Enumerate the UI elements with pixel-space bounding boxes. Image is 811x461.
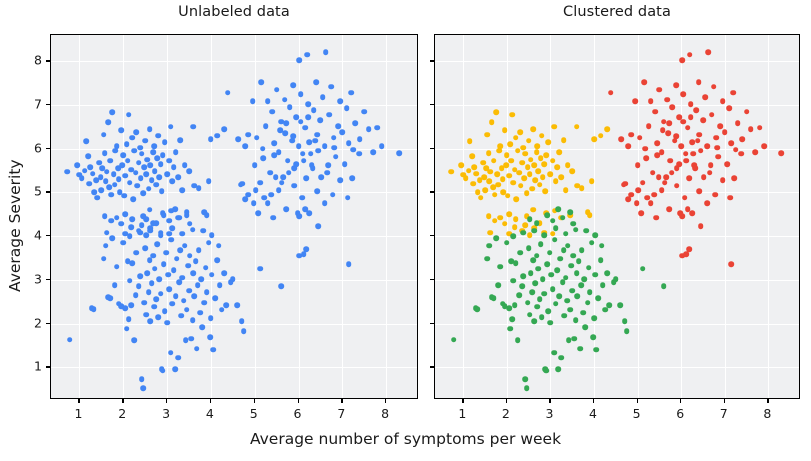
scatter-point	[168, 350, 174, 356]
scatter-point	[202, 300, 208, 306]
scatter-point	[643, 146, 649, 152]
scatter-point	[613, 276, 619, 282]
scatter-point	[491, 295, 497, 301]
scatter-point	[537, 297, 543, 303]
scatter-point	[209, 232, 215, 238]
scatter-point	[561, 137, 567, 143]
scatter-point	[198, 276, 204, 282]
gridline-vertical	[79, 35, 80, 398]
scatter-point	[187, 253, 193, 259]
scatter-point	[140, 385, 146, 391]
scatter-point	[252, 162, 258, 168]
scatter-point	[349, 176, 355, 182]
scatter-point	[525, 164, 531, 170]
scatter-point	[513, 135, 519, 141]
scatter-point	[491, 158, 497, 164]
scatter-point	[565, 243, 571, 249]
scatter-point	[127, 180, 133, 186]
scatter-point	[139, 376, 145, 382]
scatter-point	[171, 267, 177, 273]
scatter-point	[563, 231, 569, 237]
scatter-point	[540, 174, 546, 180]
scatter-point	[662, 180, 668, 186]
scatter-point	[156, 133, 162, 139]
scatter-point	[592, 232, 598, 238]
scatter-point	[304, 176, 310, 182]
scatter-point	[147, 126, 153, 132]
scatter-point	[548, 171, 554, 177]
scatter-point	[342, 161, 348, 167]
scatter-point	[215, 133, 221, 139]
scatter-point	[346, 141, 352, 147]
scatter-point	[488, 169, 494, 175]
gridline-horizontal	[51, 105, 417, 106]
scatter-point	[146, 186, 152, 192]
scatter-point	[265, 99, 271, 105]
scatter-point	[600, 282, 606, 288]
scatter-point	[575, 294, 581, 300]
scatter-point	[550, 287, 556, 293]
gridline-horizontal	[435, 324, 799, 325]
scatter-point	[322, 200, 328, 206]
scatter-point	[112, 282, 118, 288]
gridline-horizontal	[435, 105, 799, 106]
scatter-point	[131, 148, 137, 154]
scatter-point	[506, 211, 512, 217]
scatter-point	[245, 132, 251, 138]
scatter-point	[139, 222, 145, 228]
scatter-point	[569, 169, 575, 175]
scatter-point	[466, 168, 472, 174]
scatter-point	[502, 221, 508, 227]
scatter-point	[604, 270, 610, 276]
scatter-point	[712, 192, 718, 198]
scatter-point	[210, 347, 216, 353]
scatter-point	[216, 243, 222, 249]
scatter-point	[173, 294, 179, 300]
scatter-point	[137, 145, 143, 151]
scatter-point	[508, 326, 514, 332]
scatter-point	[598, 257, 604, 263]
panel-title-right: Clustered data	[434, 4, 800, 20]
scatter-point	[170, 301, 176, 307]
scatter-point	[583, 324, 589, 330]
gridline-horizontal	[435, 236, 799, 237]
scatter-point	[242, 144, 248, 150]
scatter-point	[151, 304, 157, 310]
scatter-point	[718, 123, 724, 129]
scatter-point	[666, 121, 672, 127]
scatter-point	[283, 206, 289, 212]
x-tick-label: 7	[337, 406, 345, 421]
scatter-point	[312, 138, 318, 144]
x-tick-label: 7	[720, 406, 728, 421]
scatter-point	[143, 171, 149, 177]
scatter-point	[251, 200, 257, 206]
scatter-point	[128, 225, 134, 231]
scatter-point	[208, 136, 214, 142]
scatter-point	[705, 50, 711, 56]
scatter-point	[257, 180, 263, 186]
scatter-point	[180, 231, 186, 237]
gridline-vertical	[725, 35, 726, 398]
scatter-point	[170, 179, 176, 185]
scatter-point	[171, 164, 177, 170]
scatter-point	[582, 276, 588, 282]
scatter-point	[279, 180, 285, 186]
scatter-point	[337, 177, 343, 183]
scatter-point	[527, 217, 533, 223]
x-tick-mark	[767, 399, 768, 403]
scatter-point	[253, 187, 259, 193]
scatter-point	[552, 237, 558, 243]
x-tick-label: 8	[763, 406, 771, 421]
x-tick-label: 6	[294, 406, 302, 421]
scatter-point	[474, 306, 480, 312]
scatter-point	[644, 155, 650, 161]
scatter-point	[532, 280, 538, 286]
scatter-plot-unlabeled[interactable]	[50, 34, 418, 399]
scatter-point	[495, 282, 501, 288]
scatter-point	[591, 315, 597, 321]
scatter-point	[199, 324, 205, 330]
scatter-point	[521, 230, 527, 236]
scatter-point	[652, 109, 658, 115]
gridline-vertical	[463, 35, 464, 398]
scatter-point	[569, 288, 575, 294]
scatter-point	[548, 320, 554, 326]
figure-canvas: Unlabeled data Clustered data 1234567812…	[0, 0, 811, 461]
scatter-point	[155, 241, 161, 247]
scatter-point	[493, 235, 499, 241]
scatter-point	[695, 138, 701, 144]
scatter-point	[131, 337, 137, 343]
scatter-point	[221, 126, 227, 132]
scatter-point	[728, 262, 734, 268]
scatter-point	[527, 312, 533, 318]
scatter-point	[702, 94, 708, 100]
scatter-point	[628, 132, 634, 138]
scatter-point	[697, 132, 703, 138]
scatter-point	[162, 308, 168, 314]
scatter-point	[315, 224, 321, 230]
scatter-point	[705, 144, 711, 150]
scatter-point	[101, 132, 107, 138]
scatter-point	[554, 164, 560, 170]
scatter-point	[185, 263, 191, 269]
scatter-point	[463, 175, 469, 181]
scatter-point	[654, 141, 660, 147]
scatter-point	[513, 217, 519, 223]
x-tick-mark	[210, 399, 211, 403]
scatter-point	[685, 206, 691, 212]
scatter-point	[705, 200, 711, 206]
scatter-point	[667, 158, 673, 164]
scatter-point	[528, 270, 534, 276]
scatter-point	[504, 152, 510, 158]
scatter-point	[149, 280, 155, 286]
scatter-point	[666, 206, 672, 212]
scatter-point	[592, 272, 598, 278]
scatter-point	[713, 135, 719, 141]
scatter-point	[188, 336, 194, 342]
scatter-point	[720, 177, 726, 183]
scatter-point	[326, 162, 332, 168]
scatter-point	[701, 174, 707, 180]
x-tick-mark	[593, 399, 594, 403]
scatter-point	[508, 158, 514, 164]
scatter-point	[608, 90, 614, 96]
scatter-point	[375, 125, 381, 131]
scatter-point	[531, 228, 537, 234]
scatter-point	[692, 166, 698, 172]
gridline-horizontal	[51, 192, 417, 193]
scatter-point	[128, 302, 134, 308]
scatter-point	[696, 79, 702, 85]
scatter-point	[223, 302, 229, 308]
scatter-point	[314, 189, 320, 195]
scatter-point	[139, 151, 145, 157]
scatter-point	[587, 212, 593, 218]
scatter-point	[194, 346, 200, 352]
scatter-point	[486, 214, 492, 220]
scatter-point	[151, 144, 157, 150]
scatter-point	[344, 106, 350, 112]
scatter-point	[545, 308, 551, 314]
scatter-point	[502, 127, 508, 133]
scatter-point	[114, 144, 120, 150]
scatter-point	[583, 228, 589, 234]
scatter-point	[152, 266, 158, 272]
scatter-point	[651, 192, 657, 198]
scatter-point	[145, 270, 151, 276]
scatter-point	[563, 187, 569, 193]
scatter-point	[153, 182, 159, 188]
scatter-point	[659, 187, 665, 193]
scatter-point	[191, 124, 197, 130]
scatter-point	[370, 149, 376, 155]
scatter-point	[665, 131, 671, 137]
scatter-point	[519, 284, 525, 290]
scatter-point	[521, 145, 527, 151]
scatter-point	[674, 183, 680, 189]
scatter-point	[134, 250, 140, 256]
scatter-point	[492, 192, 498, 198]
scatter-point	[534, 220, 540, 226]
scatter-point	[559, 174, 565, 180]
scatter-point	[101, 256, 107, 262]
scatter-point	[478, 195, 484, 201]
x-tick-label: 1	[458, 406, 466, 421]
x-tick-label: 4	[589, 406, 597, 421]
scatter-point	[331, 135, 337, 141]
scatter-plot-clustered[interactable]	[434, 34, 800, 399]
scatter-point	[175, 355, 181, 361]
x-tick-mark	[166, 399, 167, 403]
scatter-point	[269, 192, 275, 198]
y-tick-label: 1	[18, 359, 42, 374]
scatter-point	[565, 162, 571, 168]
x-tick-mark	[724, 399, 725, 403]
scatter-point	[114, 215, 120, 221]
scatter-point	[524, 190, 530, 196]
scatter-point	[580, 310, 586, 316]
scatter-point	[64, 169, 70, 175]
scatter-point	[535, 304, 541, 310]
scatter-point	[529, 289, 535, 295]
scatter-point	[200, 228, 206, 234]
scatter-point	[152, 169, 158, 175]
gridline-vertical	[342, 35, 343, 398]
scatter-point	[470, 181, 476, 187]
scatter-point	[91, 306, 97, 312]
scatter-point	[585, 300, 591, 306]
scatter-point	[686, 176, 692, 182]
scatter-point	[272, 152, 278, 158]
scatter-point	[127, 278, 133, 284]
scatter-point	[557, 256, 563, 262]
scatter-point	[504, 240, 510, 246]
x-tick-mark	[462, 399, 463, 403]
scatter-point	[540, 276, 546, 282]
scatter-point	[274, 87, 280, 93]
scatter-point	[323, 50, 329, 56]
scatter-point	[625, 144, 631, 150]
scatter-point	[273, 174, 279, 180]
gridline-horizontal	[435, 192, 799, 193]
scatter-point	[518, 183, 524, 189]
scatter-point	[512, 225, 518, 231]
scatter-point	[217, 282, 223, 288]
scatter-point	[484, 132, 490, 138]
scatter-point	[640, 180, 646, 186]
scatter-point	[553, 225, 559, 231]
scatter-point	[116, 176, 122, 182]
scatter-point	[83, 138, 89, 144]
scatter-point	[657, 87, 663, 93]
scatter-point	[522, 222, 528, 228]
scatter-point	[282, 97, 288, 103]
scatter-point	[361, 109, 367, 115]
x-tick-mark	[122, 399, 123, 403]
scatter-point	[326, 112, 332, 118]
scatter-point	[474, 171, 480, 177]
x-tick-label: 5	[633, 406, 641, 421]
scatter-point	[193, 259, 199, 265]
scatter-point	[648, 99, 654, 105]
scatter-point	[711, 84, 717, 90]
scatter-point	[329, 84, 335, 90]
scatter-point	[660, 127, 666, 133]
scatter-point	[593, 347, 599, 353]
y-tick-mark	[46, 235, 50, 236]
scatter-point	[514, 196, 520, 202]
scatter-point	[576, 259, 582, 265]
scatter-point	[625, 196, 631, 202]
scatter-point	[646, 123, 652, 129]
x-tick-mark	[298, 399, 299, 403]
scatter-point	[656, 174, 662, 180]
scatter-point	[190, 317, 196, 323]
scatter-point	[448, 169, 454, 175]
scatter-point	[276, 187, 282, 193]
scatter-point	[221, 270, 227, 276]
scatter-point	[173, 149, 179, 155]
scatter-point	[186, 169, 192, 175]
scatter-point	[299, 195, 305, 201]
scatter-point	[511, 233, 517, 239]
scatter-point	[168, 124, 174, 130]
scatter-point	[492, 218, 498, 224]
scatter-point	[102, 214, 108, 220]
x-tick-mark	[254, 399, 255, 403]
scatter-point	[283, 131, 289, 137]
y-tick-mark	[46, 366, 50, 367]
scatter-point	[294, 161, 300, 167]
scatter-point	[506, 173, 512, 179]
x-tick-mark	[549, 399, 550, 403]
scatter-point	[164, 320, 170, 326]
y-tick-mark	[46, 323, 50, 324]
scatter-point	[511, 278, 517, 284]
scatter-point	[673, 134, 679, 140]
y-tick-mark	[430, 104, 434, 105]
scatter-point	[165, 272, 171, 278]
scatter-point	[124, 141, 130, 147]
scatter-point	[574, 124, 580, 130]
scatter-point	[126, 112, 132, 118]
scatter-point	[574, 270, 580, 276]
scatter-point	[519, 160, 525, 166]
scatter-point	[531, 319, 537, 325]
scatter-point	[517, 129, 523, 135]
scatter-point	[516, 170, 522, 176]
scatter-point	[739, 136, 745, 142]
y-tick-mark	[46, 148, 50, 149]
scatter-point	[254, 135, 260, 141]
scatter-point	[599, 243, 605, 249]
scatter-point	[587, 289, 593, 295]
scatter-point	[263, 123, 269, 129]
scatter-point	[127, 233, 133, 239]
scatter-point	[345, 195, 351, 201]
y-tick-mark	[430, 323, 434, 324]
gridline-horizontal	[51, 367, 417, 368]
scatter-point	[484, 256, 490, 262]
scatter-point	[269, 109, 275, 115]
scatter-point	[488, 230, 494, 236]
scatter-point	[162, 139, 168, 145]
scatter-point	[239, 319, 245, 325]
scatter-point	[177, 137, 183, 143]
scatter-point	[556, 149, 562, 155]
scatter-point	[108, 218, 114, 224]
scatter-point	[715, 154, 721, 160]
scatter-point	[527, 171, 533, 177]
scatter-point	[366, 126, 372, 132]
scatter-point	[160, 368, 166, 374]
scatter-point	[261, 155, 267, 161]
scatter-point	[748, 126, 754, 132]
scatter-point	[653, 215, 659, 221]
scatter-point	[184, 307, 190, 313]
scatter-point	[722, 129, 728, 135]
scatter-point	[503, 162, 509, 168]
scatter-point	[300, 151, 306, 157]
scatter-point	[255, 211, 261, 217]
scatter-point	[648, 200, 654, 206]
scatter-point	[635, 162, 641, 168]
